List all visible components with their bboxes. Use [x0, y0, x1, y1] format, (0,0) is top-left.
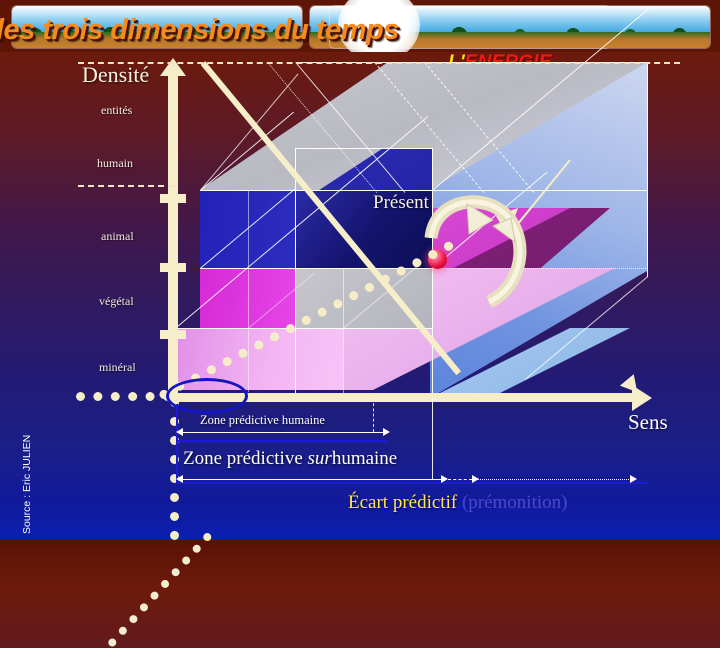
- slide-canvas: les trois dimensions du temps L'ENERGIE …: [0, 0, 720, 540]
- marker-line-1: [432, 398, 433, 480]
- x-axis-arrowhead: [632, 385, 652, 411]
- zone-surhumaine-label: Zone prédictive surhumaine: [183, 448, 397, 470]
- ecart-predictif-label: Écart prédictif (prémonition): [348, 492, 567, 514]
- ecart-dotted-bar: [478, 479, 633, 480]
- ecart-paren-text: (prémonition): [462, 492, 568, 513]
- header-banner: les trois dimensions du temps: [0, 0, 720, 52]
- slide-title: les trois dimensions du temps: [0, 14, 386, 50]
- zone-humaine-arrow-right: [383, 428, 390, 436]
- y-tick-1: [160, 194, 186, 203]
- zone-surhumaine-arrow-left: [176, 475, 183, 483]
- ecart-dash-connector: [448, 479, 472, 480]
- wire-v-3: [343, 268, 344, 393]
- zone-humaine-label: Zone prédictive humaine: [200, 413, 325, 428]
- wire-h-4: [175, 328, 432, 329]
- y-label-mineral: minéral: [99, 360, 136, 375]
- y-label-humain: humain: [97, 156, 133, 171]
- wire-v-4: [248, 190, 249, 392]
- marker-dash-1: [373, 398, 374, 432]
- y-axis-line: [168, 72, 178, 402]
- ecart-main-text: Écart prédictif: [348, 492, 462, 513]
- guide-dash-middle: [78, 185, 174, 187]
- wire-v-1: [295, 148, 296, 396]
- y-label-vegetal: végétal: [99, 294, 134, 309]
- y-label-entites: entités: [101, 103, 132, 118]
- zone-humaine-arrow-left: [176, 428, 183, 436]
- y-tick-2: [160, 263, 186, 272]
- guide-dash-top: [78, 62, 680, 64]
- present-label: Présent: [373, 192, 429, 214]
- ecart-arrow-right: [630, 475, 637, 483]
- y-label-animal: animal: [101, 229, 134, 244]
- y-tick-3: [160, 330, 186, 339]
- zone-surhumaine-prefix: Zone prédictive: [183, 448, 308, 469]
- zone-surhumaine-bar: [183, 479, 445, 480]
- zone-humaine-bar: [183, 432, 387, 433]
- zone-surhumaine-italic: sur: [308, 448, 332, 469]
- ecart-arrow-left: [472, 475, 479, 483]
- wire-h-3: [295, 148, 432, 149]
- y-axis-arrowhead: [160, 58, 186, 76]
- zone-surhumaine-arrow-right: [441, 475, 448, 483]
- wire-v-right-edge: [647, 62, 648, 277]
- y-axis-title: Densité: [82, 62, 149, 88]
- zone-surhumaine-suffix: humaine: [332, 448, 397, 469]
- prediction-dotted-diagonal-lower: [107, 531, 213, 648]
- source-credit: Source : Eric JULIEN: [21, 414, 33, 534]
- x-axis-label: Sens: [628, 410, 668, 435]
